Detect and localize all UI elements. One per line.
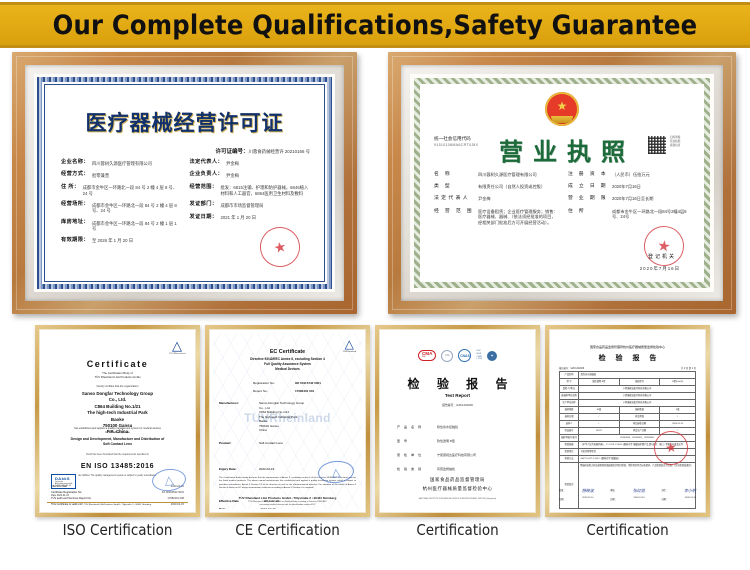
caption-test-report: Certification: [375, 521, 540, 539]
cell-label: 抽样单编号/批号: [560, 435, 579, 442]
accred-badge-sub: Deutsche Akkreditierungsstelle D-ZM-1211…: [55, 481, 72, 487]
field-row: 法定代表人： 尹金梅: [190, 159, 311, 166]
cell-label: 抽样数量: [619, 407, 660, 414]
framed-certificate-inspection-record[interactable]: 国家食品药品监督管理局杭州医疗器械质量监督检验中心 检 验 报 告 报告编号：G…: [545, 325, 710, 517]
field-label: 住 所：: [61, 184, 80, 191]
certificate-border: ★ 统一社会信用代码 91510106MA6CRT0J8X 营业执照 扫码查验营…: [414, 78, 710, 288]
field-label: 经 营 范 围: [434, 209, 474, 225]
field-label: 受 检 单 位: [397, 453, 431, 457]
issuing-center-english: NATIONAL INSTITUTE FOR MEDICAL DEVICE SU…: [387, 498, 528, 500]
field-value: 成都市市场监督管理局: [220, 201, 263, 208]
cell-value: 软性透明 B型: [579, 379, 620, 386]
field-value: 成都市金牛区一环路北一段 84 号 2 幢 4 层 8 号、24 号: [92, 201, 182, 213]
date-value: 2020-12-10: [582, 497, 593, 501]
field-label: 企业负责人：: [190, 171, 224, 178]
field-value: （人民币）伍拾万元: [612, 172, 650, 178]
signature-label: 主检：: [661, 488, 668, 494]
field-value: 批发：6815注输、护理和防护器械，6846植入材料和人工器官，6864医用卫生…: [220, 184, 310, 196]
field-row: 有效期限： 至 2026 年 1 月 20 日: [61, 237, 182, 244]
detail-row: Registration No.: HD 60117242 0001: [253, 381, 354, 385]
field-row: 法定代表人 尹金梅: [434, 196, 558, 202]
framed-certificate-medical-license[interactable]: 医疗器械经营许可证 许可证编号：川蓉食药械经营许 20210166 号 企业名称…: [12, 52, 357, 314]
field-value: 有限责任公司（自然人投资或控股）: [478, 184, 545, 190]
license-left-column: 名 称 四川蓉树久源医疗管理有限公司 类 型 有限责任公司（自然人投资或控股） …: [434, 172, 558, 231]
field-value: 医疗设备租赁；企业医疗管理服务；销售：医疗器械、器械、（依法须经批准的项目，经相…: [478, 209, 558, 225]
field-row: 成 立 日 期 2020年7月16日: [568, 184, 692, 190]
ilac-mra-logo-icon: ILACMRACNASL1234: [476, 350, 482, 361]
certificate-paper: 国家食品药品监督管理局杭州医疗器械质量监督检验中心 检 验 报 告 报告编号：G…: [553, 333, 702, 509]
top-certificates-row: 医疗器械经营许可证 许可证编号：川蓉食药械经营许 20210166 号 企业名称…: [0, 52, 750, 320]
certificate-paper: △ TÜVRheinland Certificate The Certifica…: [43, 333, 192, 509]
signature-value: 张红丽: [633, 488, 645, 494]
table-row: 送样人 / 样品接收日期 2020-11-12: [560, 421, 696, 428]
cell-value: /: [579, 414, 620, 421]
field-row: 发证日期： 2021 年 1 月 20 日: [190, 214, 311, 221]
field-value: 批零兼营: [92, 171, 109, 178]
field-label: 产 品 名 称: [397, 425, 431, 429]
cnas-logo-icon: CNAS: [458, 349, 471, 362]
field-row: 型 号 软性透明 B型: [397, 439, 522, 443]
field-value: 四川蓉树久源医疗管理有限公司: [92, 159, 152, 166]
field-label: 检 验 类 别: [397, 467, 431, 471]
field-value: 四川蓉树久源医疗管理有限公司: [478, 172, 537, 178]
field-value: 2020年7月16日至长期: [612, 196, 653, 202]
cell-label: 产品名称: [560, 372, 579, 379]
cell-value: 软性亲水接触镜: [579, 372, 696, 379]
signature-value: 杨晓波: [582, 488, 594, 494]
certificate-body: 名 称 四川蓉树久源医疗管理有限公司 类 型 有限责任公司（自然人投资或控股） …: [434, 172, 692, 231]
field-row: 企业负责人： 尹金梅: [190, 171, 311, 178]
cell-value: 宁夏康视达医疗科技有限公司: [579, 393, 696, 400]
product-block: Product: Soft Contact Lens: [219, 441, 354, 445]
nqi-logo-icon: ✦: [487, 351, 497, 361]
date-label: 日期：: [610, 497, 617, 501]
issuing-authority: 国家食品药品监督管理局杭州医疗器械质量监督检验中心: [553, 345, 702, 349]
cell-value: B型(0.00D): [660, 379, 696, 386]
date-label: Date: [219, 507, 226, 509]
framed-certificate-business-license[interactable]: ★ 统一社会信用代码 91510106MA6CRT0J8X 营业执照 扫码查验营…: [388, 52, 736, 314]
certificate-paper: △ TÜVRheinland EC Certificate Directive …: [213, 333, 362, 509]
table-row: 抽样基数 30盒 抽样数量 4盒: [560, 407, 696, 414]
issuing-center: 杭州医疗器械质量监督检验中心: [383, 486, 532, 492]
field-value: 成都市金牛区一环路北一段 84 号 2 幢 4 层 8 号、24 号: [83, 184, 182, 196]
field-label: 法定代表人：: [190, 159, 224, 166]
cell-value: /: [660, 414, 696, 421]
framed-certificate-test-report[interactable]: CMACAL CAL CNAS ILACMRACNASL1234 ✦ 检 验 报…: [375, 325, 540, 517]
cell-label: 检验方法: [560, 456, 579, 463]
permit-number-label: 许可证编号：: [215, 149, 248, 155]
field-label: 营 业 期 限: [568, 196, 608, 202]
certificate-footer-note: TÜV Rheinland LGA Products GmbH is a Not…: [216, 501, 359, 507]
cell-value: 13317: [579, 428, 620, 435]
date-value: 2020-12-10: [634, 497, 645, 501]
certificate-paper: CMACAL CAL CNAS ILACMRACNASL1234 ✦ 检 验 报…: [383, 333, 532, 509]
certificate-paper: ★ 统一社会信用代码 91510106MA6CRT0J8X 营业执照 扫码查验营…: [410, 74, 714, 292]
page-title: Our Complete Qualifications,Safety Guara…: [53, 10, 698, 41]
field-row: 住 所 成都市金牛区一环路北一段84号2幢4层8号、24号: [568, 209, 692, 220]
permit-number-line: 许可证编号：川蓉食药械经营许 20210166 号: [61, 147, 310, 155]
national-emblem-icon: ★: [545, 92, 579, 126]
field-label: 类 型: [434, 184, 474, 190]
field-label: 法定代表人: [434, 196, 474, 202]
page-number: 共 2 页 第 1 页: [681, 366, 696, 370]
cell-label: 型 号: [560, 379, 579, 386]
field-row: 营 业 期 限 2020年7月16日至长期: [568, 196, 692, 202]
certificate-title: Certificate: [43, 359, 192, 369]
qr-code-icon: [648, 136, 666, 154]
field-value: 宁夏康视达医疗科技有限公司: [437, 453, 476, 457]
table-row: 型 号 软性透明 B型 规格型号 B型(0.00D): [560, 379, 696, 386]
frame-mat: CMACAL CAL CNAS ILACMRACNASL1234 ✦ 检 验 报…: [379, 329, 536, 513]
field-label: 经营场所：: [61, 201, 89, 208]
cell-label: 被抽样单位名称: [560, 393, 579, 400]
cell-value: 30盒: [579, 407, 620, 414]
page-banner: Our Complete Qualifications,Safety Guara…: [0, 2, 750, 48]
report-title: 检 验 报 告: [383, 375, 532, 392]
report-subtitle: Test Report: [383, 393, 532, 398]
field-label: 发证日期：: [190, 214, 218, 221]
field-value: 软性透明 B型: [437, 439, 455, 443]
framed-certificate-ce[interactable]: △ TÜVRheinland EC Certificate Directive …: [205, 325, 370, 517]
qualifications-page: Our Complete Qualifications,Safety Guara…: [0, 0, 750, 570]
field-label: 企业名称：: [61, 159, 89, 166]
bottom-certificates-row: △ TÜVRheinland Certificate The Certifica…: [0, 325, 750, 570]
field-row: 注 册 资 本 （人民币）伍拾万元: [568, 172, 692, 178]
cell-label: 送样人: [560, 421, 579, 428]
frame-mat: 医疗器械经营许可证 许可证编号：川蓉食药械经营许 20210166 号 企业名称…: [25, 65, 344, 301]
field-label: 注 册 资 本: [568, 172, 608, 178]
field-row: 类 型 有限责任公司（自然人投资或控股）: [434, 184, 558, 190]
registration-block: Registration No.: HD 60117242 0001 Repor…: [253, 381, 354, 397]
field-value: 尹金梅: [478, 196, 491, 202]
detail-key: Report No.:: [253, 389, 295, 393]
detail-value: 17082401 008: [167, 497, 184, 500]
frame-mat: ★ 统一社会信用代码 91510106MA6CRT0J8X 营业执照 扫码查验营…: [401, 65, 723, 301]
field-label: 名 称: [434, 172, 474, 178]
cell-value: 2020-11-12: [660, 421, 696, 428]
frame-mat: △ TÜVRheinland Certificate The Certifica…: [39, 329, 196, 513]
table-row: 被抽样单位名称 宁夏康视达医疗科技有限公司: [560, 393, 696, 400]
report-meta: 报告编号：GZK1202009 共 2 页 第 1 页: [559, 366, 696, 370]
field-value: 成都市金牛区一环路北一段84号2幢4层8号、24号: [612, 209, 692, 220]
certificate-footer: TÜV Rheinland LGA Products GmbH • Tillys…: [47, 502, 188, 507]
certificate-subtitle: The Certification Body of TÜV Rheinland …: [43, 371, 192, 379]
field-row: 经 营 范 围 医疗设备租赁；企业医疗管理服务；销售：医疗器械、器械、（依法须经…: [434, 209, 558, 225]
logo-text: TÜVRheinland: [169, 353, 185, 355]
detail-value: HD 60117242 0001: [295, 381, 321, 385]
caption-ce: CE Certification: [205, 521, 370, 539]
framed-certificate-iso[interactable]: △ TÜVRheinland Certificate The Certifica…: [35, 325, 200, 517]
caption-inspection-record: Certification: [545, 521, 710, 539]
field-row: 产 品 名 称 软性亲水接触镜: [397, 425, 522, 429]
tuv-rheinland-logo-icon: △ TÜVRheinland: [169, 339, 185, 353]
certificate-paper: 医疗器械经营许可证 许可证编号：川蓉食药械经营许 20210166 号 企业名称…: [34, 74, 335, 292]
cell-label: 抽样基数: [560, 407, 579, 414]
manufacturer-label: Manufacturer:: [219, 401, 239, 405]
hereby-line: hereby certifies that the organization: [43, 385, 192, 388]
field-label: 经营方式：: [61, 171, 89, 178]
cell-label: 商品编号: [560, 428, 579, 435]
signature-value: 李小明: [684, 488, 696, 494]
field-value: 成都市金牛区一环路北一段 84 号 2 幢 1 层 1 号: [92, 219, 182, 231]
product-value: Soft Contact Lens: [259, 441, 354, 445]
cell-value: 宁夏康视达医疗科技有限公司: [579, 400, 696, 407]
detail-row: Report No.: 17082401 001: [253, 389, 354, 393]
detail-key: Registration No.:: [253, 381, 295, 385]
field-value: 有因监督抽检: [437, 467, 455, 471]
certificate-title: 医疗器械经营许可证: [45, 107, 324, 137]
field-value: 尹金梅: [226, 159, 239, 166]
field-row: 发证部门： 成都市市场监督管理局: [190, 201, 311, 208]
cell-label: 样品生产日期: [619, 428, 660, 435]
issuing-authority: 国家食品药品监督管理局: [383, 477, 532, 483]
field-row: 受 检 单 位 宁夏康视达医疗科技有限公司: [397, 453, 522, 457]
signature-row: 批准： 杨晓波 审核： 张红丽 主检： 李小明: [559, 488, 696, 494]
proof-line: Proof has been furnished that the requir…: [43, 453, 192, 456]
signature-block: 批准： 杨晓波 审核： 张红丽 主检： 李小明 日期： 2020-12-10 日…: [559, 488, 696, 504]
permit-number-value: 川蓉食药械经营许 20210166 号: [249, 149, 311, 154]
signature-label: 审核：: [610, 488, 617, 494]
certificate-title: EC Certificate: [213, 349, 362, 355]
cell-label: 受检人(单位): [560, 386, 579, 393]
product-label: Product:: [219, 441, 231, 445]
caption-iso: ISO Certification: [35, 521, 200, 539]
date-label: 日期：: [559, 497, 566, 501]
field-value: 尹金梅: [226, 171, 239, 178]
field-row: 企业名称： 四川蓉树久源医疗管理有限公司: [61, 159, 182, 166]
certificate-subtitle: Directive 93/42/EEC Annex II, excluding …: [213, 357, 362, 372]
registration-date: 2020年7月16日: [640, 266, 680, 272]
cell-label: 规格型号: [619, 379, 660, 386]
license-right-column: 注 册 资 本 （人民币）伍拾万元 成 立 日 期 2020年7月16日 营 业…: [568, 172, 692, 231]
qr-side-text: 扫码查验营业执照真伪信息: [670, 136, 692, 148]
field-row: 检 验 类 别 有因监督抽检: [397, 467, 522, 471]
date-label: 日期：: [661, 497, 668, 501]
field-row: 住 所： 成都市金牛区一环路北一段 84 号 2 幢 4 层 8 号、24 号: [61, 184, 182, 196]
cell-value: /: [579, 421, 620, 428]
accreditation-logos: CMACAL CAL CNAS ILACMRACNASL1234 ✦: [383, 349, 532, 362]
scope-text: Design and Development, Manufacture and …: [43, 437, 192, 447]
detail-row: Certificate Registration No. SX 60010542…: [51, 491, 184, 494]
signature-label: 批准：: [559, 488, 566, 494]
certificate-border: 医疗器械经营许可证 许可证编号：川蓉食药械经营许 20210166 号 企业名称…: [37, 77, 332, 289]
cell-label: 抽样日期: [560, 414, 579, 421]
cell-label: 检验项目: [560, 449, 579, 456]
table-row: 产品名称 软性亲水接触镜: [560, 372, 696, 379]
field-label: 成 立 日 期: [568, 184, 608, 190]
signature-date-row: 日期： 2020-12-10 日期： 2020-12-10 日期： 2020-1…: [559, 497, 696, 501]
field-value: 2020年7月16日: [612, 184, 641, 190]
dakks-accreditation-badge: DAkkS Deutsche Akkreditierungsstelle D-Z…: [51, 474, 76, 489]
scope-lead: has established and applies a quality ma…: [43, 427, 192, 435]
certificate-left-column: 企业名称： 四川蓉树久源医疗管理有限公司 经营方式： 批零兼营: [61, 159, 182, 249]
field-value: 2021 年 1 月 20 日: [220, 214, 256, 221]
report-number: 报告编号：GZK1202009: [559, 366, 584, 370]
table-row: 生产单位名称 宁夏康视达医疗科技有限公司: [560, 400, 696, 407]
report-fields: 产 品 名 称 软性亲水接触镜 型 号 软性透明 B型 受 检 单 位 宁夏康视…: [397, 425, 522, 481]
field-label: 型 号: [397, 439, 431, 443]
detail-row: TÜV audit and Services Report No. 170824…: [51, 497, 184, 500]
cell-label: 生产单位名称: [560, 400, 579, 407]
detail-value: SX 60010542 0001: [162, 491, 184, 494]
report-number: 报告编号：GZK1202009: [383, 403, 532, 407]
detail-value: 17082401 001: [295, 389, 314, 393]
field-label: 经营范围：: [190, 184, 218, 191]
cell-label: 样品接收日期: [619, 421, 660, 428]
date-value: 2020-12-10: [685, 497, 696, 501]
field-label: 住 所: [568, 209, 608, 220]
issue-date: Date 2020-01-16: [51, 494, 69, 497]
field-label: 发证部门：: [190, 201, 218, 208]
detail-key: TÜV audit and Services Report No.: [51, 497, 92, 500]
field-row: 名 称 四川蓉树久源医疗管理有限公司: [434, 172, 558, 178]
field-label: 库房地址：: [61, 219, 89, 226]
field-value: 至 2026 年 1 月 20 日: [92, 237, 133, 244]
cell-label: 检验依据: [560, 442, 579, 449]
cell-value: 宁夏康视达医疗科技有限公司: [579, 386, 696, 393]
field-row: 经营范围： 批发：6815注输、护理和防护器械，6846植入材料和人工器官，68…: [190, 184, 311, 196]
date-value: 2017-02-20: [260, 507, 275, 509]
table-row: 受检人(单位) 宁夏康视达医疗科技有限公司: [560, 386, 696, 393]
frame-mat: △ TÜVRheinland EC Certificate Directive …: [209, 329, 366, 513]
report-title: 检 验 报 告: [553, 353, 702, 363]
certificate-inner-border: 医疗器械经营许可证 许可证编号：川蓉食药械经营许 20210166 号 企业名称…: [44, 84, 325, 282]
field-row: 库房地址： 成都市金牛区一环路北一段 84 号 2 幢 1 层 1 号: [61, 219, 182, 231]
expiry-label: Expiry Date:: [219, 467, 237, 471]
manufacturer-block: Manufacturer: Sanso Dongfar Technology G…: [219, 401, 354, 433]
date-row: Date 2017-02-20: [219, 507, 276, 509]
table-row: 抽样日期 / 样品等级 /: [560, 414, 696, 421]
cell-value: 4盒: [660, 407, 696, 414]
certificate-footer: TÜV Rheinland LGA Products GmbH • Tillys…: [216, 496, 359, 500]
field-row: 经营场所： 成都市金牛区一环路北一段 84 号 2 幢 4 层 8 号、24 号: [61, 201, 182, 213]
field-value: 软性亲水接触镜: [437, 425, 458, 429]
cell-label: 样品等级: [619, 414, 660, 421]
cal-logo-icon: CAL: [441, 350, 453, 362]
frame-mat: 国家食品药品监督管理局杭州医疗器械质量监督检验中心 检 验 报 告 报告编号：G…: [549, 329, 706, 513]
cma-logo-icon: CMACAL: [418, 350, 436, 360]
field-row: 经营方式： 批零兼营: [61, 171, 182, 178]
manufacturer-value: Sanso Dongfar Technology Group Co., Ltd.…: [259, 401, 354, 433]
field-label: 有效期限：: [61, 237, 89, 244]
